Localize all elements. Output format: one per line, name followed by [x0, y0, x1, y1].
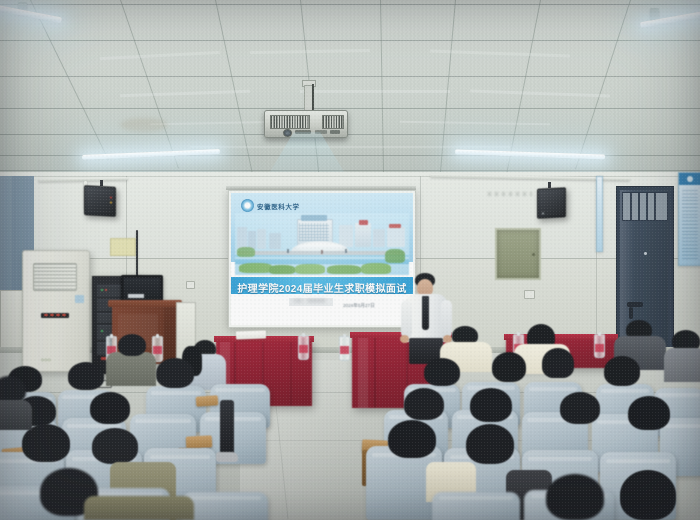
- rack-cable: [136, 230, 138, 278]
- door-lock[interactable]: [629, 307, 633, 319]
- university-logo-mark: [241, 199, 254, 212]
- audience-shoulder-edge-left: [0, 400, 32, 430]
- slide-subtitle-text: 汇报人：某某某某某: [293, 299, 325, 304]
- seat-writing-tablet-1[interactable]: [196, 395, 219, 407]
- audience-head-b4: [470, 388, 512, 422]
- floor-standing-air-conditioner: ◇◇◇: [22, 250, 90, 372]
- projection-screen: 安徽医科大学: [228, 190, 416, 328]
- wall-speaker-left: [84, 185, 116, 217]
- audience-head-c2: [92, 428, 138, 464]
- audience-head-a6: [542, 348, 574, 378]
- audience-head-d2: [546, 474, 604, 520]
- seat-writing-tablet-2[interactable]: [186, 435, 213, 448]
- wall-speaker-right: [537, 187, 566, 219]
- audience-head-b3: [404, 388, 444, 420]
- audience-head-jacket-grey: [118, 334, 146, 356]
- audience-head-b2: [90, 392, 130, 424]
- wall-electrical-panel[interactable]: [495, 228, 541, 280]
- seat-row-d-4[interactable]: [432, 492, 520, 520]
- seated-person-shoe: [216, 452, 238, 462]
- ac-display: [41, 313, 69, 318]
- wall-information-poster: [678, 172, 700, 266]
- water-bottle-3[interactable]: [298, 335, 309, 360]
- audience-head-b6: [628, 396, 670, 430]
- audience-head-a3: [156, 358, 194, 388]
- audience-head-c4: [466, 424, 514, 464]
- audience-head-a4: [424, 358, 460, 386]
- audience-head-c5: [620, 470, 676, 520]
- presenter-arm-right: [441, 300, 452, 338]
- campus-photo: [235, 213, 409, 275]
- audience-jacket-grey: [106, 352, 156, 386]
- seated-person-leg: [220, 400, 234, 460]
- ac-brand-logo: ◇◇◇: [41, 357, 51, 362]
- presenter-hand-left: [400, 335, 409, 343]
- wall-outlet-right[interactable]: [524, 290, 535, 299]
- water-bottle-7[interactable]: [594, 334, 605, 358]
- ac-air-vent: [33, 263, 77, 291]
- presenter-tie: [422, 296, 429, 330]
- monitor-label: [128, 294, 144, 298]
- audience-head-c3: [388, 420, 436, 458]
- lecture-hall-photo: 安徽医科大学: [0, 0, 700, 520]
- door-transom-window: [622, 192, 668, 221]
- university-logo-text: 安徽医科大学: [257, 201, 300, 211]
- seat-row-d-3[interactable]: [182, 492, 268, 520]
- audience-head-a5: [492, 352, 526, 382]
- wall-writing-marks: [488, 192, 532, 196]
- projector-lens: [283, 129, 292, 137]
- slide-title-text: 护理学院2024届毕业生求职模拟面试: [231, 280, 413, 295]
- slide-date-text: 2024年5月27日: [343, 303, 375, 309]
- documents-on-table-left: [236, 330, 266, 339]
- wall-poster-edge-left: [596, 176, 603, 252]
- left-wall-blue-panel-edge: [0, 176, 12, 294]
- audience-head-b5: [560, 392, 600, 424]
- wall-outlet-left[interactable]: [186, 281, 195, 289]
- ceiling: [0, 0, 700, 178]
- wall-notice-left: [110, 238, 136, 256]
- presenter-arm-left: [401, 300, 412, 338]
- foreground-clothing-left: [84, 496, 194, 520]
- university-logo: 安徽医科大学: [241, 199, 300, 212]
- water-bottle-4[interactable]: [339, 336, 350, 361]
- audience-head-a7: [604, 356, 640, 386]
- presentation-slide: 安徽医科大学: [231, 193, 413, 325]
